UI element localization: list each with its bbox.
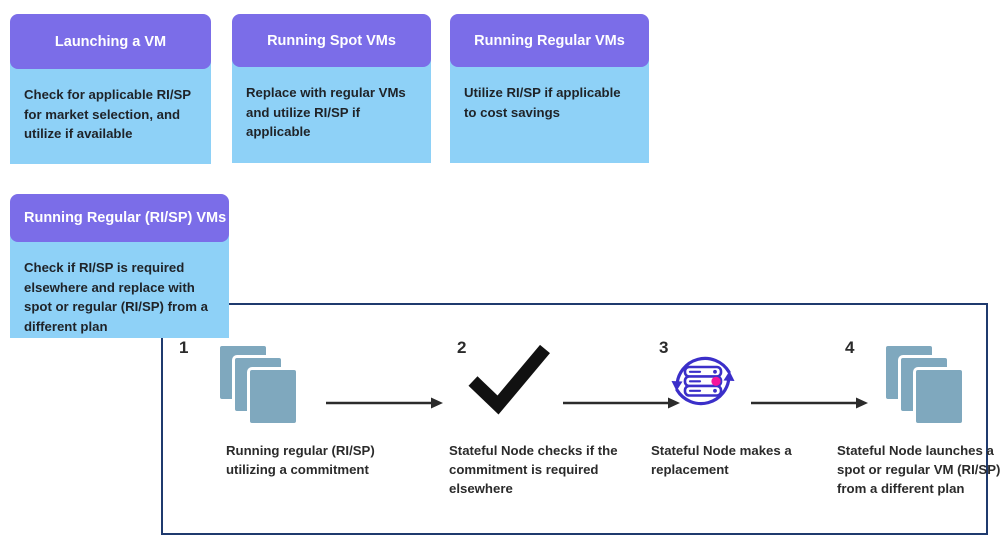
card-running-spot-vms-title: Running Spot VMs: [232, 14, 431, 67]
checkmark-icon: [465, 341, 555, 421]
card-running-regular-vms-title: Running Regular VMs: [450, 14, 649, 67]
vm-stack-icon: [883, 343, 969, 421]
card-launching-a-vm-body: Check for applicable RI/SP for market se…: [10, 61, 211, 164]
card-running-regular-risp-vms-title: Running Regular (RI/SP) VMs: [10, 194, 229, 242]
card-running-regular-vms: Running Regular VMs Utilize RI/SP if app…: [450, 14, 649, 163]
step-caption: Stateful Node launches a spot or regular…: [837, 441, 1000, 498]
step-caption: Stateful Node makes a replacement: [651, 441, 821, 479]
flow-step-1: 1 Running regular (RI/SP) utilizing a co…: [171, 305, 371, 533]
arrow-right-icon: [326, 393, 444, 413]
card-launching-a-vm: Launching a VM Check for applicable RI/S…: [10, 14, 211, 164]
card-running-regular-risp-vms-body: Check if RI/SP is required elsewhere and…: [10, 234, 229, 338]
replacement-flow-container: 1 Running regular (RI/SP) utilizing a co…: [161, 303, 988, 535]
step-caption: Stateful Node checks if the commitment i…: [449, 441, 627, 498]
flow-step-4: 4 Stateful Node launches a spot or regul…: [837, 305, 1000, 533]
step-number: 4: [845, 338, 854, 358]
card-running-spot-vms-body: Replace with regular VMs and utilize RI/…: [232, 59, 431, 163]
step-caption: Running regular (RI/SP) utilizing a comm…: [226, 441, 398, 479]
card-launching-a-vm-title: Launching a VM: [10, 14, 211, 69]
card-running-spot-vms: Running Spot VMs Replace with regular VM…: [232, 14, 431, 163]
step-number: 1: [179, 338, 188, 358]
card-running-regular-risp-vms: Running Regular (RI/SP) VMs Check if RI/…: [10, 194, 229, 338]
server-replacement-icon: [663, 341, 743, 421]
card-running-regular-vms-body: Utilize RI/SP if applicable to cost savi…: [450, 59, 649, 163]
flow-step-3: 3 Stateful: [651, 305, 851, 533]
vm-stack-icon: [217, 343, 303, 421]
flow-step-2: 2 Stateful Node checks if the commitment…: [449, 305, 649, 533]
